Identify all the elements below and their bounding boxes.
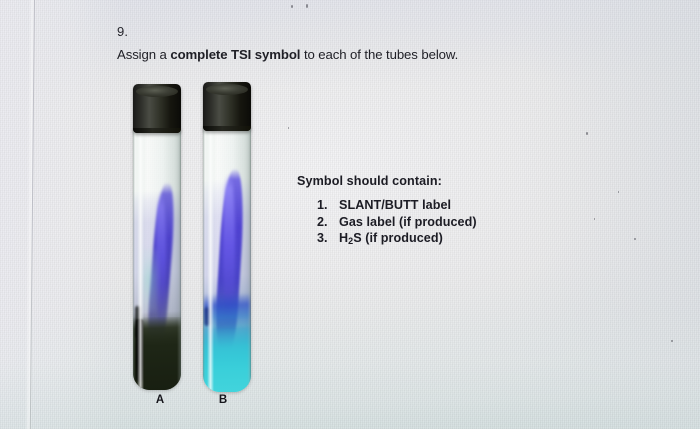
question-number: 9. <box>117 24 128 39</box>
question-text: Assign a complete TSI symbol to each of … <box>117 47 458 62</box>
tube-a-cap-top <box>136 86 178 97</box>
list-item-label: H2S (if produced) <box>339 230 443 248</box>
tube-b-cap-top <box>206 84 248 95</box>
paper-speck <box>634 238 636 240</box>
list-item-number: 3. <box>317 230 339 248</box>
h2s-formula-post: S (if produced) <box>353 231 443 245</box>
tube-a-cap-rim <box>133 128 181 133</box>
tube-b-glass <box>203 126 251 392</box>
question-text-prefix: Assign a <box>117 47 170 62</box>
h2s-formula-subscript: 2 <box>348 236 353 246</box>
tube-b-cap-rim <box>203 126 251 131</box>
tube-b-label: B <box>213 394 233 406</box>
list-item: 2. Gas label (if produced) <box>297 214 477 231</box>
tube-a-glass-edge-left <box>133 128 135 390</box>
test-tube-b <box>203 82 251 394</box>
list-item-label: SLANT/BUTT label <box>339 197 451 214</box>
tube-b-cap <box>203 82 251 131</box>
h2s-formula-pre: H <box>339 231 348 245</box>
list-item-label: Gas label (if produced) <box>339 214 477 231</box>
tube-a-glass <box>133 128 181 390</box>
tube-a-cap <box>133 84 181 133</box>
paper-speck <box>594 218 595 220</box>
symbol-requirements-heading: Symbol should contain: <box>297 174 477 188</box>
paper-speck <box>586 132 588 135</box>
symbol-requirements-list: 1. SLANT/BUTT label 2. Gas label (if pro… <box>297 197 477 248</box>
tube-b-glass-edge-right <box>247 126 251 392</box>
paper-speck <box>288 127 289 129</box>
paper-speck <box>291 5 293 8</box>
list-item-number: 2. <box>317 214 339 231</box>
question-text-suffix: to each of the tubes below. <box>300 47 458 62</box>
tube-a-label: A <box>150 394 170 406</box>
list-item-number: 1. <box>317 197 339 214</box>
question-text-emphasis: complete TSI symbol <box>170 47 300 62</box>
paper-speck <box>618 191 619 193</box>
paper-speck <box>671 340 673 342</box>
list-item: 1. SLANT/BUTT label <box>297 197 477 214</box>
list-item: 3. H2S (if produced) <box>297 230 477 248</box>
tube-a-glass-edge-right <box>177 128 181 390</box>
worksheet-photo: 9. Assign a complete TSI symbol to each … <box>0 0 700 429</box>
tube-b-glass-highlight <box>207 126 213 392</box>
test-tube-a <box>133 84 181 394</box>
tube-b-glass-edge-left <box>203 126 205 392</box>
tube-a-glass-highlight <box>137 128 143 390</box>
symbol-requirements-panel: Symbol should contain: 1. SLANT/BUTT lab… <box>297 174 477 248</box>
paper-speck <box>306 4 308 8</box>
